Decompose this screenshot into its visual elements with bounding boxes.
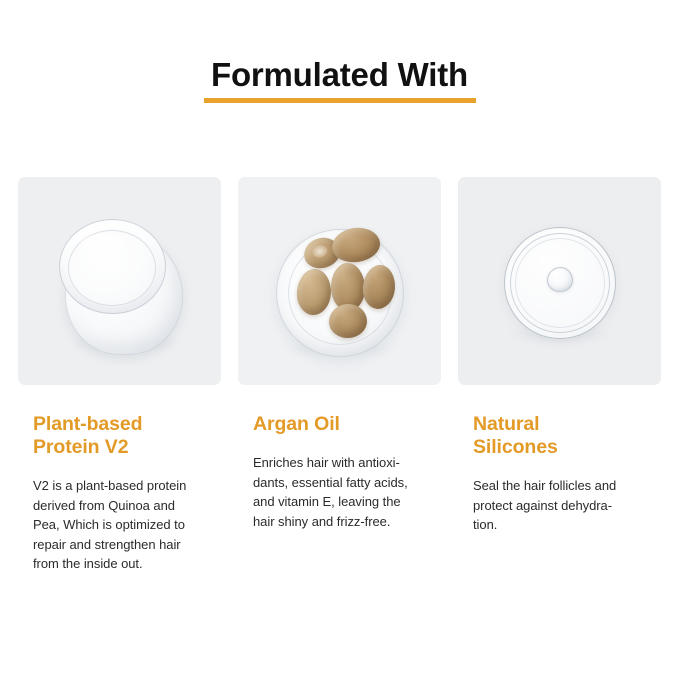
page-title-block: Formulated With [0,56,679,103]
ingredient-heading: Natural Silicones [473,413,661,459]
argan-nuts-image [238,177,441,385]
glass-bowl-stage [18,177,221,385]
glass-bowl-image [18,177,221,385]
petri-dish-image [458,177,661,385]
silicone-droplet [547,267,573,292]
argan-nuts-stage [238,177,441,385]
ingredient-column-argan-oil: Argan Oil Enriches hair with antioxi- da… [238,177,441,574]
ingredient-description: V2 is a plant-based protein derived from… [33,476,219,574]
ingredient-columns: Plant-based Protein V2 V2 is a plant-bas… [18,177,662,574]
formulated-with-page: Formulated With Plant-based Protein V2 V… [0,0,679,679]
page-title: Formulated With [209,56,470,94]
bowl-highlight [80,235,124,251]
ingredient-description: Seal the hair follicles and protect agai… [473,476,659,535]
ingredient-description: Enriches hair with antioxi- dants, essen… [253,453,439,531]
title-underline-accent [204,98,476,103]
ingredient-heading: Plant-based Protein V2 [33,413,221,459]
ingredient-column-natural-silicones: Natural Silicones Seal the hair follicle… [458,177,661,574]
ingredient-column-plant-based-protein: Plant-based Protein V2 V2 is a plant-bas… [18,177,221,574]
ingredient-heading: Argan Oil [253,413,441,436]
petri-dish-stage [458,177,661,385]
